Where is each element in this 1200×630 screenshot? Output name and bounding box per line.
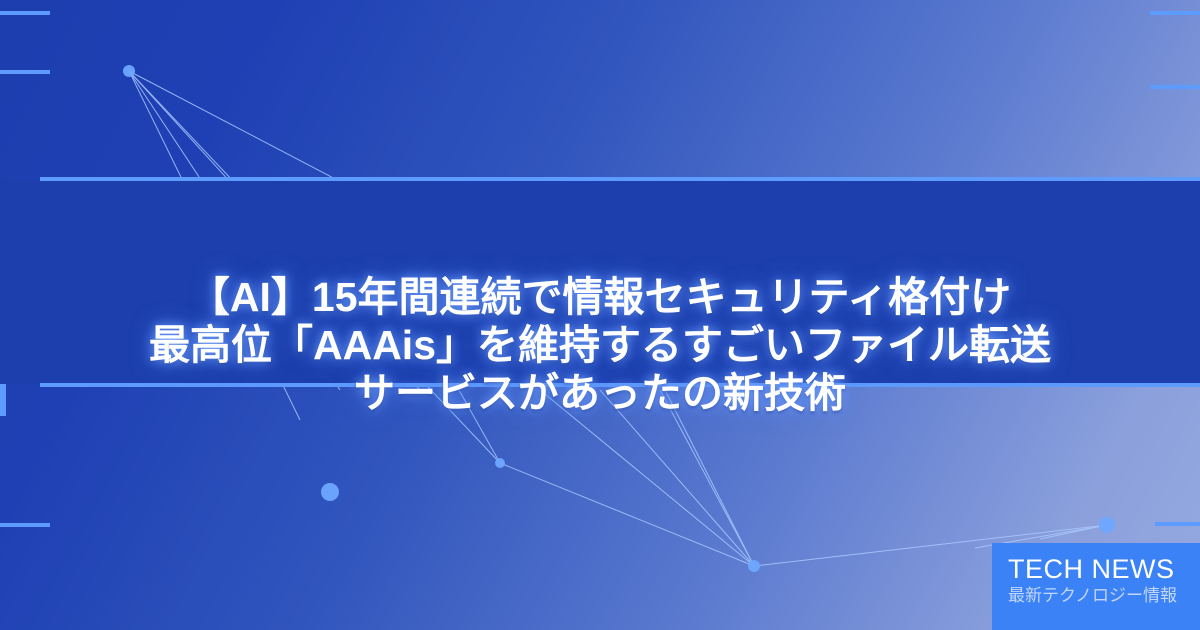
rule-top-left-1 xyxy=(0,11,50,15)
status-badge: TECH NEWS 最新テクノロジー情報 xyxy=(992,543,1200,630)
node-right-edge xyxy=(1099,517,1115,533)
badge-subtitle: 最新テクノロジー情報 xyxy=(1008,585,1184,607)
node-lower-left xyxy=(321,483,339,501)
title-band-top-rule xyxy=(40,177,1200,181)
rule-top-right-2 xyxy=(1150,85,1200,89)
og-card: 【AI】15年間連続で情報セキュリティ格付け 最高位「AAAis」を維持するすご… xyxy=(0,0,1200,630)
rule-top-right-1 xyxy=(1150,11,1200,15)
badge-title: TECH NEWS xyxy=(1008,554,1184,584)
page-title: 【AI】15年間連続で情報セキュリティ格付け 最高位「AAAis」を維持するすご… xyxy=(0,273,1200,417)
node-top-left xyxy=(123,65,135,77)
node-mid-center xyxy=(495,458,505,468)
edge-midcenter-to-lowercenter xyxy=(500,463,754,566)
rule-top-left-2 xyxy=(0,70,50,74)
node-lower-center xyxy=(748,560,760,572)
rule-low-left xyxy=(0,523,50,527)
rule-low-right xyxy=(1155,522,1200,526)
